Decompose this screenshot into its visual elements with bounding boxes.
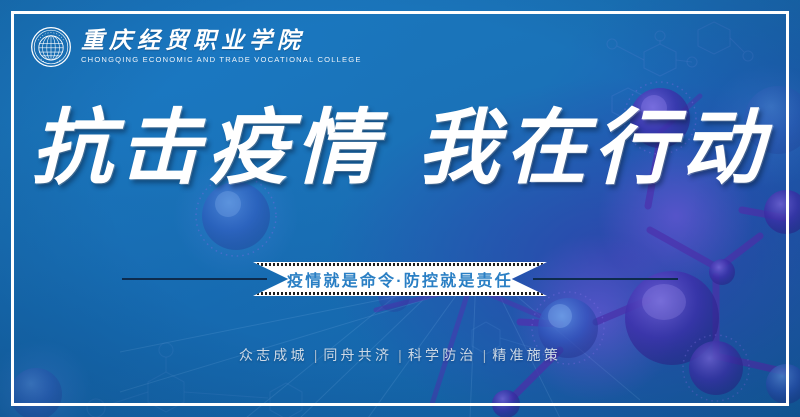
main-title-part1: 抗击疫情 xyxy=(31,103,383,194)
main-title-container: 抗击疫情我在行动 xyxy=(0,108,800,190)
slogan-text: 疫情就是命令·防控就是责任 xyxy=(287,267,513,291)
college-name-en: CHONGQING ECONOMIC AND TRADE VOCATIONAL … xyxy=(81,56,362,64)
college-globe-emblem-icon xyxy=(30,26,72,68)
tagline-separator: | xyxy=(477,347,493,363)
tagline-item: 科学防治 xyxy=(408,347,477,363)
main-title: 抗击疫情我在行动 xyxy=(31,108,769,190)
slogan-ribbon: 疫情就是命令·防控就是责任 xyxy=(253,262,547,296)
main-title-part2: 我在行动 xyxy=(417,103,769,194)
ribbon-rule-right xyxy=(533,278,678,280)
college-branding-header: 重庆经贸职业学院 CHONGQING ECONOMIC AND TRADE VO… xyxy=(30,26,362,68)
tagline-item: 精准施策 xyxy=(492,347,561,363)
slogan-ribbon-row: 疫情就是命令·防控就是责任 xyxy=(0,262,800,296)
covid-awareness-banner: 重庆经贸职业学院 CHONGQING ECONOMIC AND TRADE VO… xyxy=(0,0,800,417)
ribbon-rule-left xyxy=(122,278,267,280)
tagline-item: 同舟共济 xyxy=(323,347,392,363)
ribbon-dotted-edge-bottom xyxy=(253,292,547,295)
college-name-cn: 重庆经贸职业学院 xyxy=(81,29,362,53)
tagline-separator: | xyxy=(392,347,408,363)
college-name-block: 重庆经贸职业学院 CHONGQING ECONOMIC AND TRADE VO… xyxy=(81,29,362,64)
ribbon-dotted-edge-top xyxy=(253,263,547,266)
tagline-separator: | xyxy=(308,347,324,363)
tagline-row: 众志成城|同舟共济|科学防治|精准施策 xyxy=(0,345,800,365)
tagline-item: 众志成城 xyxy=(239,347,308,363)
